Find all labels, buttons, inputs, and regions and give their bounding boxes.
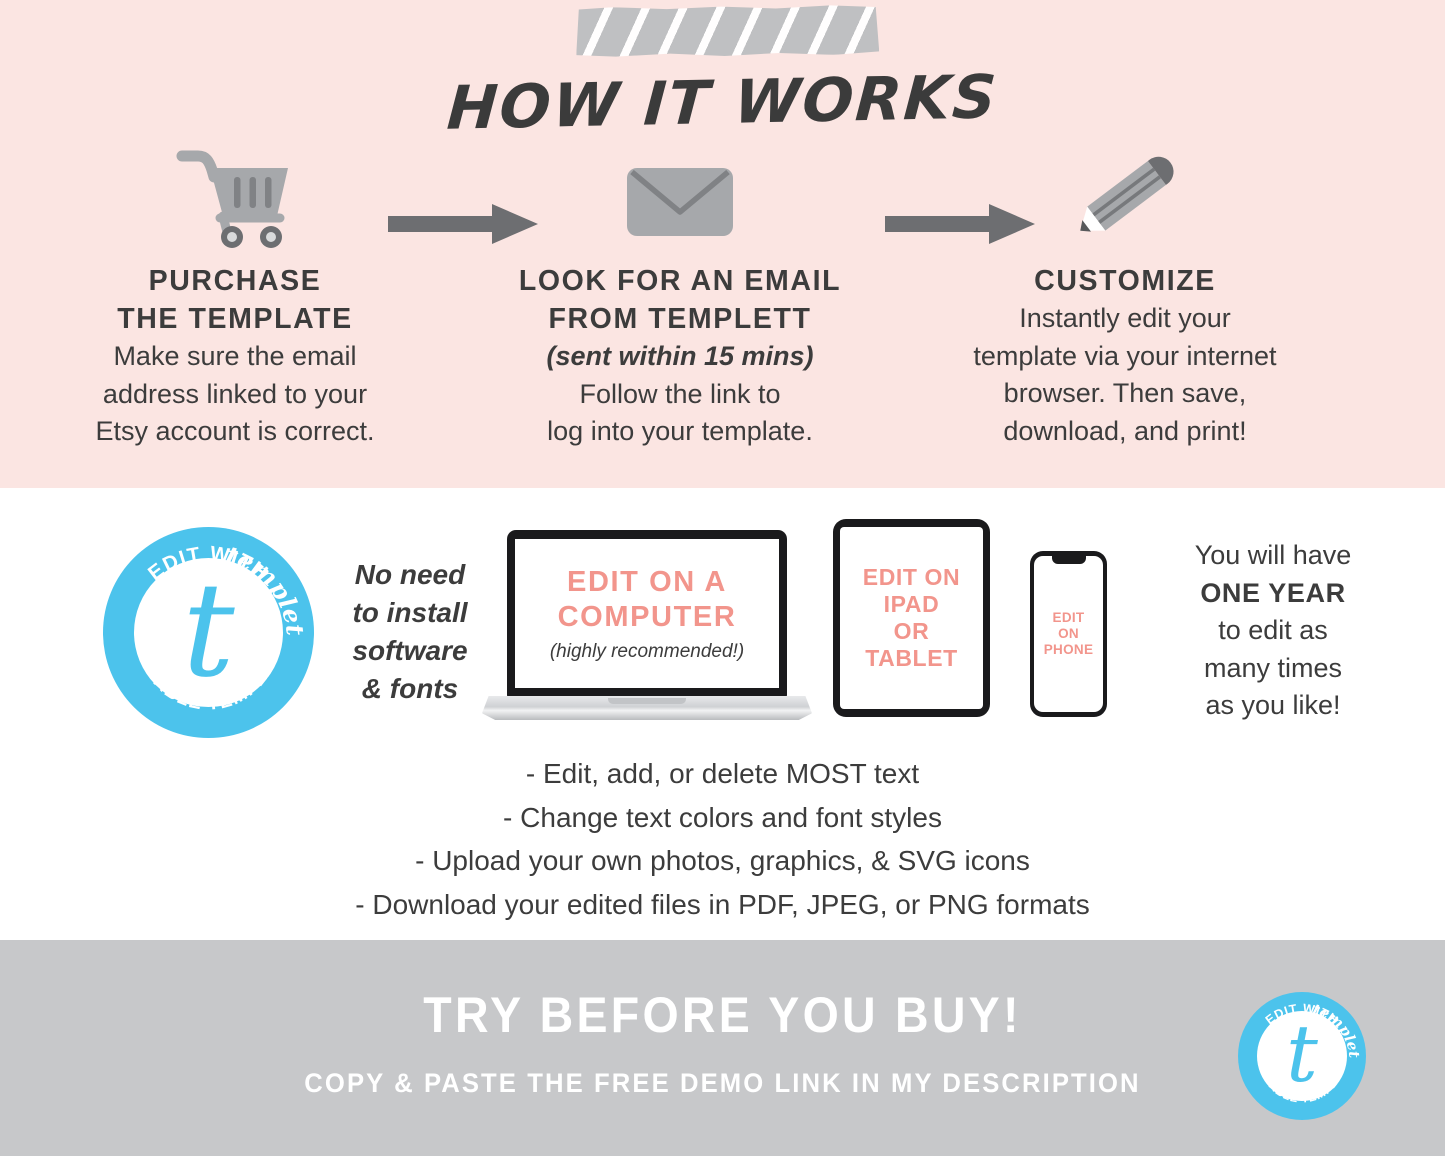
arrow-right-icon-1 <box>388 202 538 246</box>
footer-subtitle: COPY & PASTE THE FREE DEMO LINK IN MY DE… <box>36 1068 1409 1099</box>
tablet-screen-line2: IPAD <box>863 591 960 618</box>
no-install-line2: to install <box>330 594 490 632</box>
laptop-screen-line1: EDIT ON A <box>567 565 727 600</box>
features-list: - Edit, add, or delete MOST text - Chang… <box>0 752 1445 926</box>
no-install-line3: software <box>330 632 490 670</box>
step-email-body-line1: (sent within 15 mins) <box>460 338 900 376</box>
step-purchase-body-line1: Make sure the email <box>15 338 455 376</box>
tablet-screen-line3: OR <box>863 618 960 645</box>
arrow-right-icon-2 <box>885 202 1035 246</box>
step-email-body-line3: log into your template. <box>460 413 900 451</box>
step-email-body: (sent within 15 mins) Follow the link to… <box>460 338 900 451</box>
laptop-trackpad-notch <box>608 698 686 704</box>
one-year-line4: many times <box>1123 650 1423 688</box>
svg-text:EDITABLE TEMPLATE: EDITABLE TEMPLATE <box>1256 1059 1347 1106</box>
step-customize-heading: CUSTOMIZE <box>905 262 1345 300</box>
phone-screen-line2: ON <box>1044 626 1094 642</box>
one-year-line2: ONE YEAR <box>1123 575 1423 613</box>
laptop-mockup: EDIT ON A COMPUTER (highly recommended!) <box>482 530 812 728</box>
phone-screen-line1: EDIT <box>1044 610 1094 626</box>
phone-notch <box>1052 556 1086 564</box>
step-customize-heading-line1: CUSTOMIZE <box>905 262 1345 300</box>
laptop-lid: EDIT ON A COMPUTER (highly recommended!) <box>507 530 787 698</box>
templett-badge-arcs: EDIT WITH templett EDITABLE TEMPLATE <box>103 527 314 738</box>
one-year-line3: to edit as <box>1123 612 1423 650</box>
step-purchase-heading: PURCHASE THE TEMPLATE <box>15 262 455 338</box>
phone-screen: EDIT ON PHONE <box>1034 556 1103 712</box>
list-item: - Download your edited files in PDF, JPE… <box>0 883 1445 927</box>
tablet-screen: EDIT ON IPAD OR TABLET <box>840 527 983 709</box>
how-it-works-section: HOW IT WORKS PURCHASE THE TEMPL <box>0 0 1445 488</box>
tablet-screen-line4: TABLET <box>863 645 960 672</box>
phone-mockup: EDIT ON PHONE <box>1030 551 1107 717</box>
laptop-screen: EDIT ON A COMPUTER (highly recommended!) <box>515 539 779 688</box>
step-customize-body-line3: browser. Then save, <box>905 375 1345 413</box>
step-purchase-body-line2: address linked to your <box>15 376 455 414</box>
phone-screen-text: EDIT ON PHONE <box>1044 610 1094 658</box>
steps-container: PURCHASE THE TEMPLATE Make sure the emai… <box>0 138 1445 468</box>
list-item: - Edit, add, or delete MOST text <box>0 752 1445 796</box>
step-customize-body-line4: download, and print! <box>905 413 1345 451</box>
step-purchase: PURCHASE THE TEMPLATE Make sure the emai… <box>15 138 455 451</box>
templett-badge-small: t EDIT WITH templett EDITABLE TEMPLATE <box>1238 992 1366 1120</box>
tablet-mockup: EDIT ON IPAD OR TABLET <box>833 519 990 717</box>
step-customize: CUSTOMIZE Instantly edit your template v… <box>905 138 1345 450</box>
footer-banner: TRY BEFORE YOU BUY! COPY & PASTE THE FRE… <box>0 940 1445 1156</box>
tablet-screen-text: EDIT ON IPAD OR TABLET <box>863 564 960 672</box>
no-install-line1: No need <box>330 556 490 594</box>
no-install-text: No need to install software & fonts <box>330 556 490 708</box>
one-year-text: You will have ONE YEAR to edit as many t… <box>1123 537 1423 725</box>
laptop-screen-note: (highly recommended!) <box>550 641 744 663</box>
step-purchase-heading-line1: PURCHASE <box>15 262 455 300</box>
laptop-screen-line2: COMPUTER <box>558 600 737 635</box>
list-item: - Upload your own photos, graphics, & SV… <box>0 839 1445 883</box>
footer-title: TRY BEFORE YOU BUY! <box>51 986 1395 1044</box>
phone-screen-line3: PHONE <box>1044 642 1094 658</box>
one-year-line5: as you like! <box>1123 687 1423 725</box>
step-email-heading-line1: LOOK FOR AN EMAIL <box>460 262 900 300</box>
no-install-line4: & fonts <box>330 670 490 708</box>
step-purchase-heading-line2: THE TEMPLATE <box>15 300 455 338</box>
templett-badge-large: t EDIT WITH templett EDITABLE TEMPLATE <box>103 527 314 738</box>
tablet-screen-line1: EDIT ON <box>863 564 960 591</box>
step-purchase-body: Make sure the email address linked to yo… <box>15 338 455 451</box>
step-customize-body: Instantly edit your template via your in… <box>905 300 1345 450</box>
step-customize-body-line1: Instantly edit your <box>905 300 1345 338</box>
step-email: LOOK FOR AN EMAIL FROM TEMPLETT (sent wi… <box>460 138 900 451</box>
step-email-body-line2: Follow the link to <box>460 376 900 414</box>
one-year-line1: You will have <box>1123 537 1423 575</box>
step-email-heading-line2: FROM TEMPLETT <box>460 300 900 338</box>
list-item: - Change text colors and font styles <box>0 796 1445 840</box>
svg-text:EDITABLE TEMPLATE: EDITABLE TEMPLATE <box>133 637 285 715</box>
washi-tape-icon <box>576 4 880 57</box>
step-purchase-body-line3: Etsy account is correct. <box>15 413 455 451</box>
step-email-heading: LOOK FOR AN EMAIL FROM TEMPLETT <box>460 262 900 338</box>
step-customize-body-line2: template via your internet <box>905 338 1345 376</box>
templett-badge-small-arcs: EDIT WITH templett EDITABLE TEMPLATE <box>1238 992 1366 1120</box>
